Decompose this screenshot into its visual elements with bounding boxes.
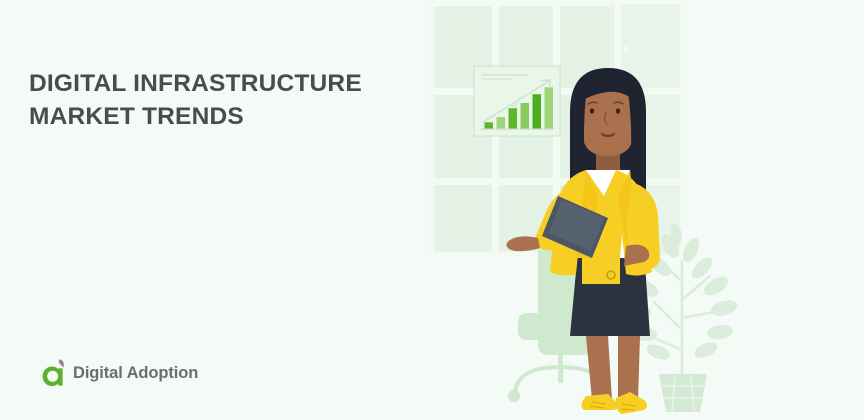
- businesswoman-presenting-chart-illustration: [410, 0, 864, 420]
- plant-pot: [659, 374, 707, 412]
- whiteboard-panel-icon: [474, 66, 560, 136]
- leg-right: [618, 336, 640, 400]
- marketing-banner: DIGITAL INFRASTRUCTURE MARKET TRENDS Dig…: [0, 0, 864, 420]
- logo-wordmark: Digital Adoption: [73, 364, 198, 383]
- digital-adoption-leaf-a-icon: [41, 358, 69, 388]
- page-title: DIGITAL INFRASTRUCTURE MARKET TRENDS: [29, 68, 389, 133]
- brand-logo[interactable]: Digital Adoption: [41, 358, 198, 388]
